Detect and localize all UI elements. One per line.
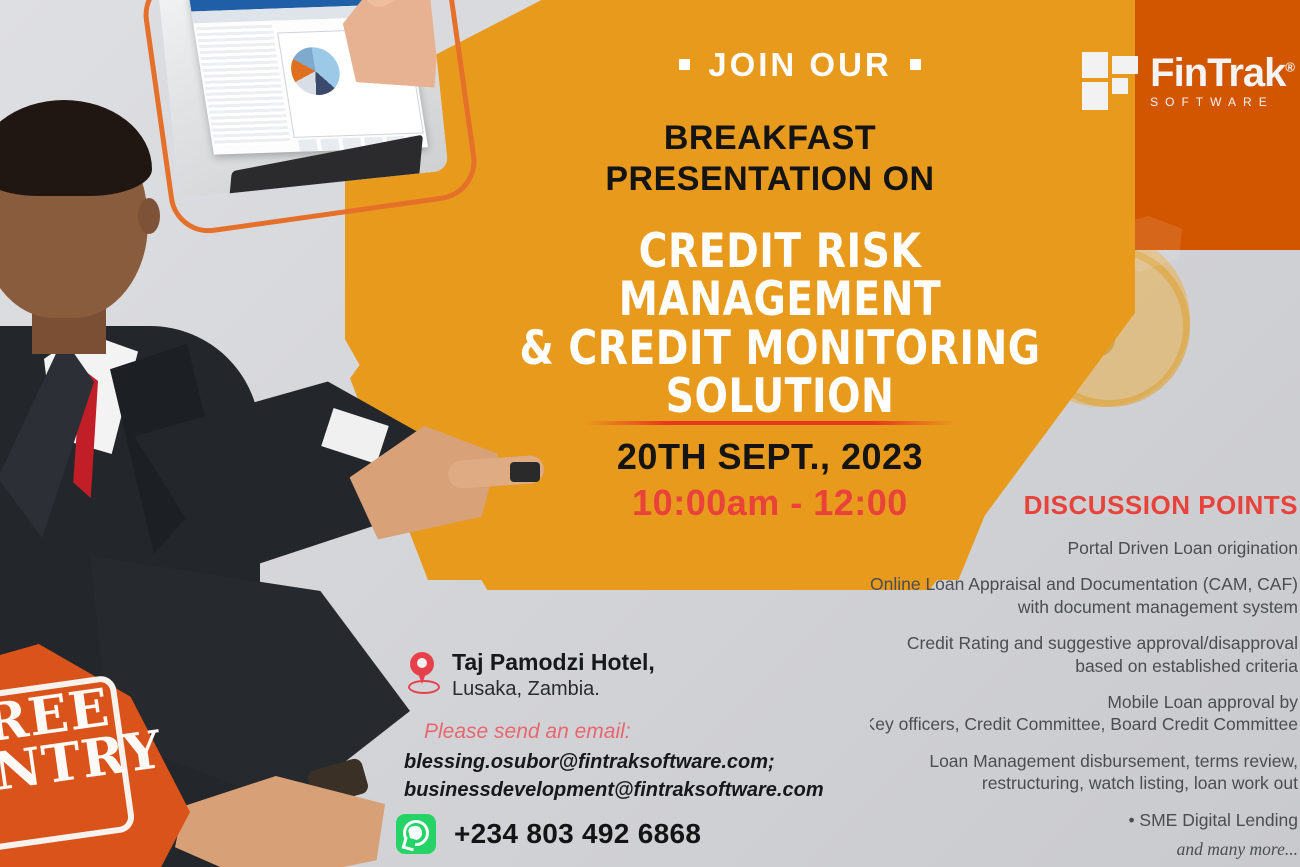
whatsapp-icon[interactable] bbox=[396, 814, 436, 854]
venue-name: Taj Pamodzi Hotel, bbox=[452, 648, 655, 676]
discussion-panel: DISCUSSION POINTS Portal Driven Loan ori… bbox=[870, 490, 1300, 867]
title-line-3: SOLUTION bbox=[492, 373, 1069, 421]
hair bbox=[0, 100, 152, 196]
event-date: 20TH SEPT., 2023 bbox=[580, 436, 960, 478]
whatsapp-contact-row[interactable]: +234 803 492 6868 bbox=[396, 814, 701, 854]
flyer-canvas: $ bbox=[0, 0, 1300, 867]
discussion-footer: and many more... bbox=[870, 839, 1298, 860]
breakfast-line-2: PRESENTATION ON bbox=[560, 159, 980, 200]
email-list: blessing.osubor@fintraksoftware.com; bus… bbox=[404, 748, 824, 804]
free-entry-badge: FREE ENTRY bbox=[0, 683, 116, 803]
title-divider bbox=[585, 421, 955, 425]
venue-block: Taj Pamodzi Hotel, Lusaka, Zambia. bbox=[408, 648, 838, 702]
fintrak-logo-mark-icon bbox=[1082, 52, 1140, 110]
logo-subtitle: SOFTWARE bbox=[1150, 95, 1294, 109]
join-our-text: JOIN OUR bbox=[708, 46, 892, 83]
list-item: Portal Driven Loan origination bbox=[870, 537, 1298, 559]
join-our-heading: JOIN OUR bbox=[600, 46, 1000, 84]
list-item: Online Loan Appraisal and Documentation … bbox=[870, 573, 1298, 618]
breakfast-line-1: BREAKFAST bbox=[560, 118, 980, 159]
registered-mark-icon: ® bbox=[1285, 60, 1294, 75]
list-item: • SME Digital Lending bbox=[870, 809, 1298, 831]
logo-name: FinTrak® bbox=[1150, 53, 1294, 93]
list-item: Mobile Loan approval by Key officers, Cr… bbox=[870, 691, 1298, 736]
phone-number[interactable]: +234 803 492 6868 bbox=[454, 818, 701, 850]
fintrak-logo-text: FinTrak® SOFTWARE bbox=[1150, 53, 1294, 109]
title-line-1: CREDIT RISK MANAGEMENT bbox=[492, 228, 1069, 325]
email-address-1[interactable]: blessing.osubor@fintraksoftware.com; bbox=[404, 748, 824, 776]
page-title: CREDIT RISK MANAGEMENT & CREDIT MONITORI… bbox=[492, 228, 1069, 422]
square-bullet-left-icon bbox=[679, 59, 690, 70]
list-item: Loan Management disbursement, terms revi… bbox=[870, 750, 1298, 795]
discussion-list: Portal Driven Loan origination Online Lo… bbox=[870, 537, 1298, 831]
breakfast-presentation-heading: BREAKFAST PRESENTATION ON bbox=[560, 118, 980, 201]
email-address-2[interactable]: businessdevelopment@fintraksoftware.com bbox=[404, 776, 824, 804]
ear bbox=[138, 198, 160, 234]
email-note: Please send an email: bbox=[424, 720, 631, 744]
square-bullet-right-icon bbox=[910, 59, 921, 70]
logo-name-text: FinTrak bbox=[1150, 51, 1285, 95]
list-item: Credit Rating and suggestive approval/di… bbox=[870, 632, 1298, 677]
title-line-2: & CREDIT MONITORING bbox=[492, 325, 1069, 373]
discussion-heading: DISCUSSION POINTS bbox=[870, 490, 1298, 521]
fintrak-logo: FinTrak® SOFTWARE bbox=[1082, 52, 1294, 110]
finger-tip-marker bbox=[510, 462, 540, 482]
location-pin-icon bbox=[408, 652, 436, 692]
venue-city: Lusaka, Zambia. bbox=[452, 676, 655, 702]
